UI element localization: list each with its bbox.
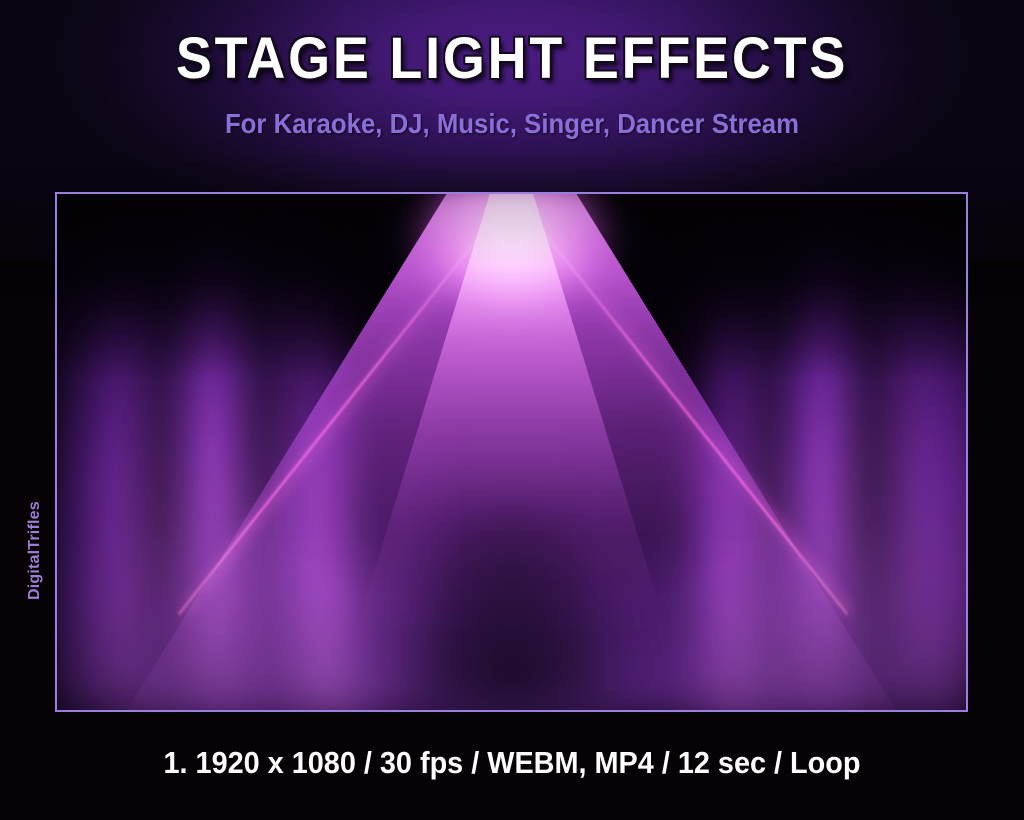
page-title: STAGE LIGHT EFFECTS — [36, 30, 988, 88]
spec-caption: 1. 1920 x 1080 / 30 fps / WEBM, MP4 / 12… — [36, 744, 988, 782]
stage-light-image — [57, 194, 966, 710]
stage-vignette — [57, 194, 966, 710]
poster-canvas: STAGE LIGHT EFFECTS For Karaoke, DJ, Mus… — [0, 0, 1024, 820]
watermark-label: DigitalTrifles — [24, 470, 46, 600]
page-subtitle: For Karaoke, DJ, Music, Singer, Dancer S… — [41, 108, 983, 140]
preview-frame — [55, 192, 968, 712]
